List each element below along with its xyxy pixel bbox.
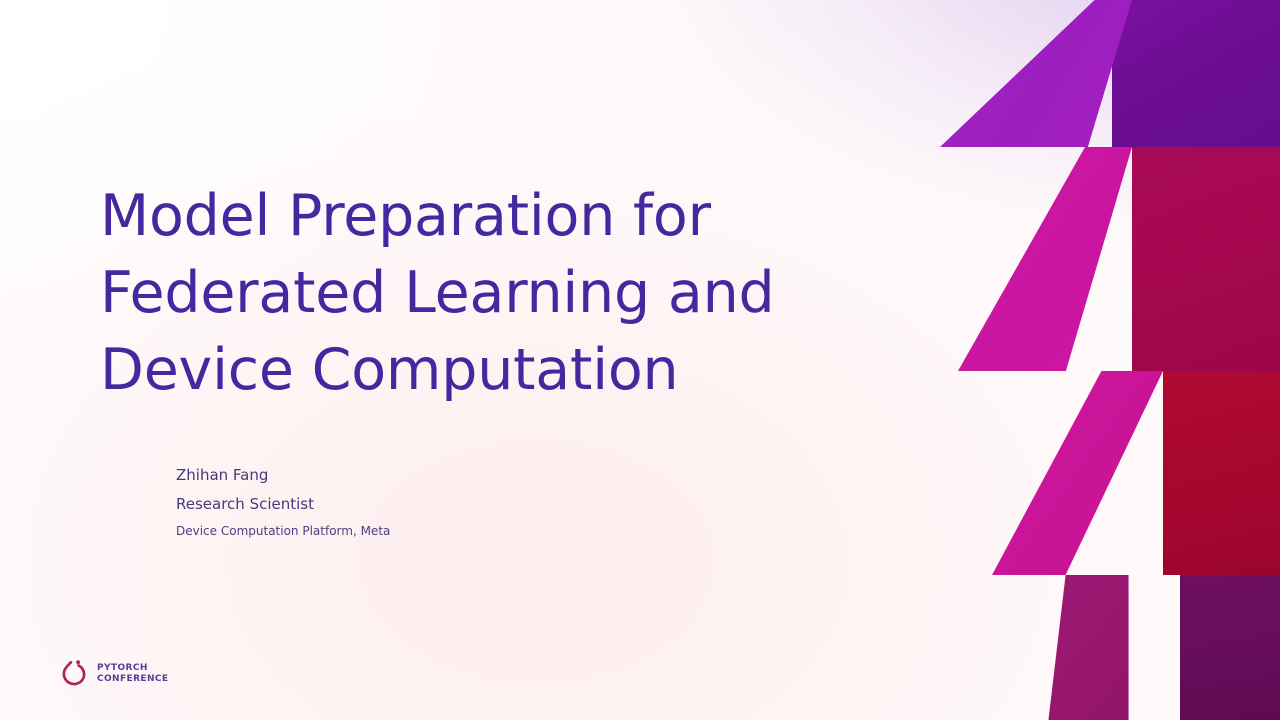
- band-4-block: [1180, 575, 1280, 720]
- pytorch-conference-logo: PYTORCH CONFERENCE: [60, 658, 168, 690]
- decorative-band-2: [940, 147, 1280, 371]
- presenter-byline: Zhihan Fang Research Scientist Device Co…: [176, 465, 636, 539]
- slide-title: Model Preparation for Federated Learning…: [100, 178, 900, 409]
- band-3-block: [1163, 371, 1280, 575]
- presenter-role: Research Scientist: [176, 494, 636, 515]
- decorative-band-4: [940, 575, 1280, 720]
- title-slide: Model Preparation for Federated Learning…: [0, 0, 1280, 720]
- band-1-block: [1112, 0, 1280, 147]
- logo-wordmark: PYTORCH CONFERENCE: [97, 663, 168, 685]
- band-2-block: [1132, 147, 1280, 371]
- pytorch-flame-icon: [60, 658, 90, 690]
- band-2-parallelogram: [958, 147, 1132, 371]
- logo-line-pytorch: PYTORCH: [97, 663, 168, 674]
- decorative-band-group: [940, 0, 1280, 720]
- logo-line-conference: CONFERENCE: [97, 674, 168, 685]
- decorative-band-3: [940, 371, 1280, 575]
- band-1-parallelogram: [940, 0, 1132, 147]
- band-3-parallelogram: [992, 371, 1163, 575]
- presenter-org: Device Computation Platform, Meta: [176, 523, 636, 539]
- band-4-parallelogram: [1037, 575, 1180, 720]
- decorative-band-1: [940, 0, 1280, 147]
- presenter-name: Zhihan Fang: [176, 465, 636, 486]
